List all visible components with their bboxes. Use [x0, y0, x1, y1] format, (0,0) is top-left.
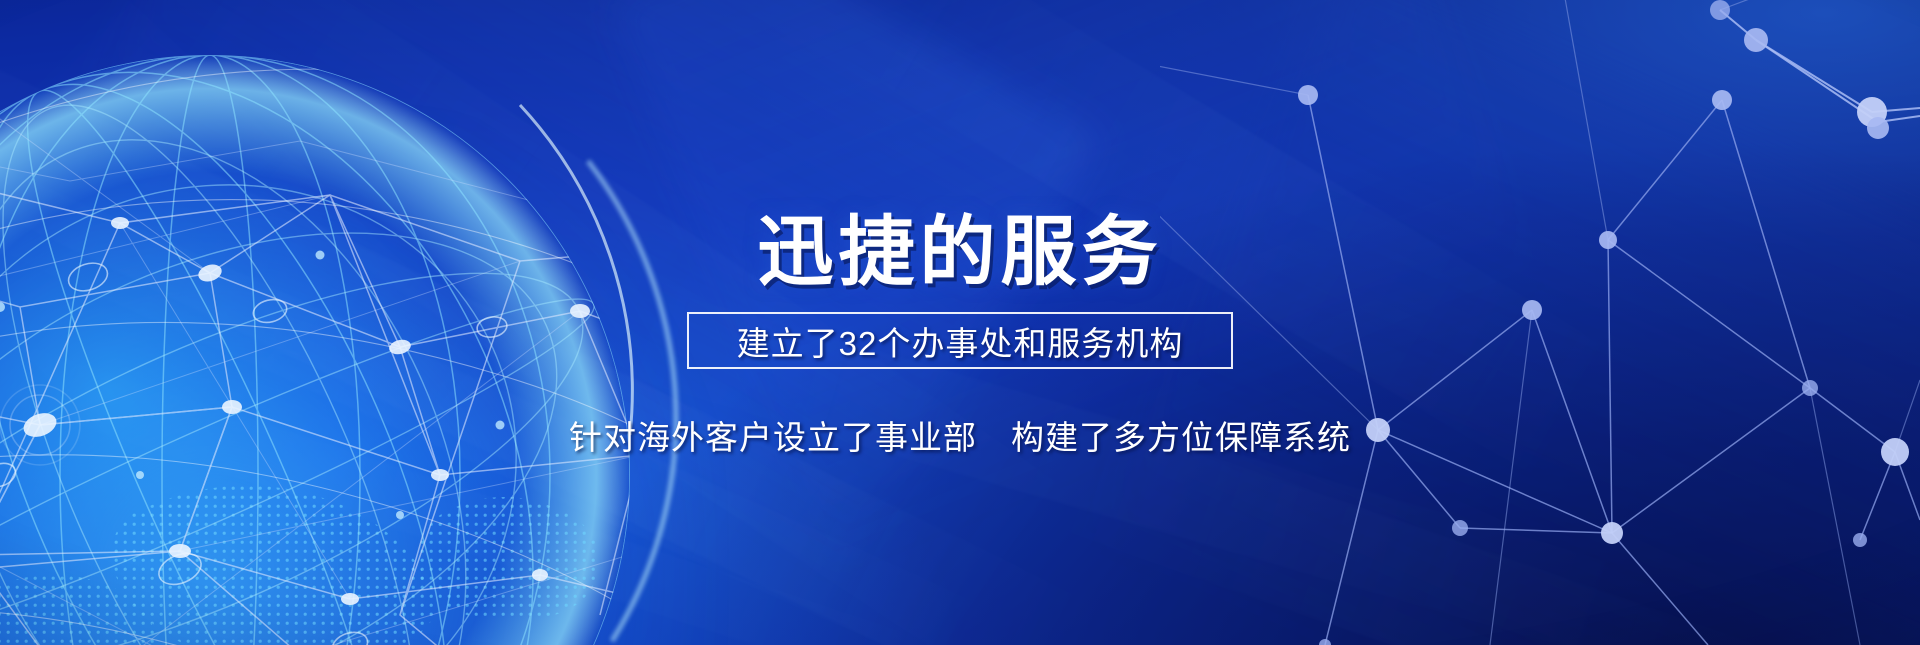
background-vignette	[0, 0, 1920, 645]
service-banner: .ln{stroke:#93a8ee;stroke-width:1.5;fill…	[0, 0, 1920, 645]
